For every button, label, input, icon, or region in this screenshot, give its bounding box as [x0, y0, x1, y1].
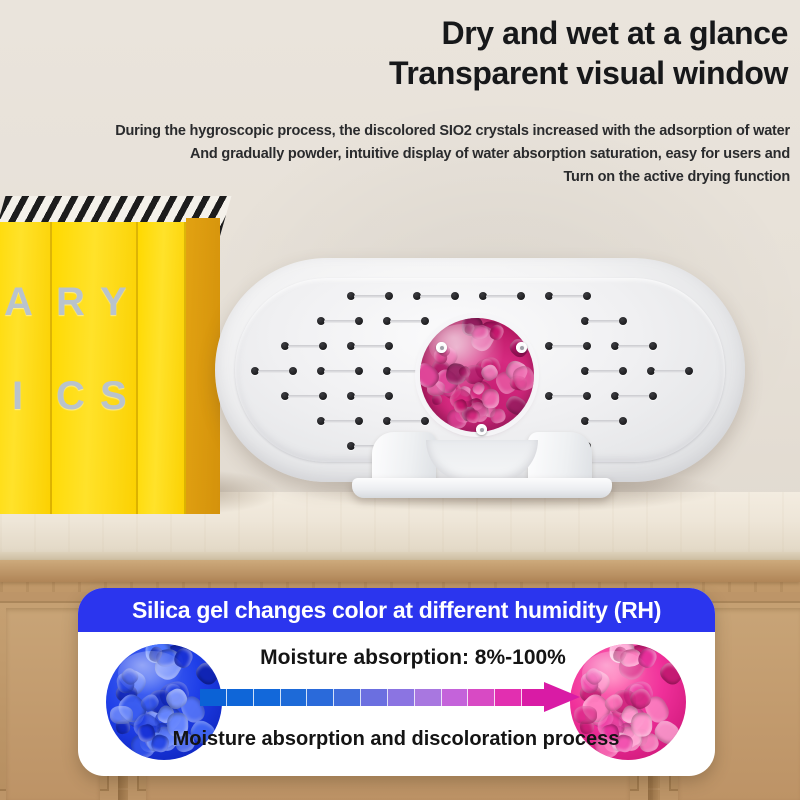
book-spine [0, 222, 52, 514]
grille-hole [647, 367, 693, 375]
silica-bead [482, 388, 499, 407]
moisture-absorption-label: Moisture absorption: 8%-100% [248, 646, 578, 670]
stand-base [352, 478, 612, 498]
grille-hole [317, 417, 363, 425]
card-banner: Silica gel changes color at different hu… [78, 588, 715, 632]
card-body: Moisture absorption: 8%-100% Moisture ab… [78, 632, 715, 776]
gel-highlight [118, 651, 185, 695]
book-letter-y: Y [100, 280, 127, 325]
gradient-segment [468, 689, 495, 706]
grille-hole [347, 342, 393, 350]
gradient-segment [495, 689, 522, 706]
gradient-arrow-head [544, 682, 580, 712]
gradient-segment [415, 689, 442, 706]
grille-hole [413, 292, 459, 300]
product-marketing-image: A R Y I C S Dry and wet at a glance Tran… [0, 0, 800, 800]
grille-hole [581, 317, 627, 325]
gradient-arrow-bar [200, 689, 548, 706]
gradient-segment [442, 689, 469, 706]
grille-hole [479, 292, 525, 300]
description-line-3: Turn on the active drying function [0, 166, 790, 189]
book-letter-s: S [100, 374, 127, 419]
humidity-info-card: Silica gel changes color at different hu… [78, 588, 715, 776]
gradient-segment [361, 689, 388, 706]
grille-hole [347, 292, 393, 300]
book-letter-r: R [56, 280, 85, 325]
book-spine [138, 222, 186, 514]
description-paragraph: During the hygroscopic process, the disc… [0, 120, 790, 189]
gradient-arrow [200, 682, 620, 712]
headline-line-1: Dry and wet at a glance [442, 15, 788, 51]
book-letter-a: A [4, 280, 33, 325]
silica-bead [503, 392, 529, 417]
description-line-2: And gradually powder, intuitive display … [0, 143, 790, 166]
grille-hole [581, 367, 627, 375]
grille-hole [251, 367, 297, 375]
silica-bead [110, 706, 132, 724]
transparent-visual-window [420, 318, 534, 432]
gradient-segment [334, 689, 361, 706]
discoloration-process-label: Moisture absorption and discoloration pr… [156, 728, 636, 751]
gradient-segment [281, 689, 308, 706]
gradient-segment [388, 689, 415, 706]
grille-hole [317, 367, 363, 375]
grille-hole [347, 392, 393, 400]
grille-hole [545, 392, 591, 400]
book-letter-c: C [56, 374, 85, 419]
grille-hole [545, 292, 591, 300]
grille-hole [611, 392, 657, 400]
silica-bead [656, 659, 685, 688]
cabinet-top-rail [0, 560, 800, 582]
headline: Dry and wet at a glance Transparent visu… [12, 14, 788, 93]
yellow-books: A R Y I C S [0, 196, 220, 514]
window-screw-icon [436, 342, 447, 353]
gradient-segment [200, 689, 227, 706]
grille-hole [317, 317, 363, 325]
grille-hole [611, 342, 657, 350]
grille-hole [581, 417, 627, 425]
silica-bead [431, 394, 443, 406]
card-banner-title: Silica gel changes color at different hu… [132, 597, 661, 624]
gradient-segment [227, 689, 254, 706]
book-letter-i: I [12, 374, 23, 419]
gradient-segment [254, 689, 281, 706]
headline-line-2: Transparent visual window [12, 54, 788, 94]
grille-hole [545, 342, 591, 350]
grille-hole [281, 392, 327, 400]
book-spine [52, 222, 138, 514]
stand-saddle [426, 440, 538, 482]
device-stand [352, 432, 612, 494]
description-line-1: During the hygroscopic process, the disc… [0, 120, 790, 143]
gradient-segment [307, 689, 334, 706]
grille-hole [281, 342, 327, 350]
window-screw-icon [516, 342, 527, 353]
